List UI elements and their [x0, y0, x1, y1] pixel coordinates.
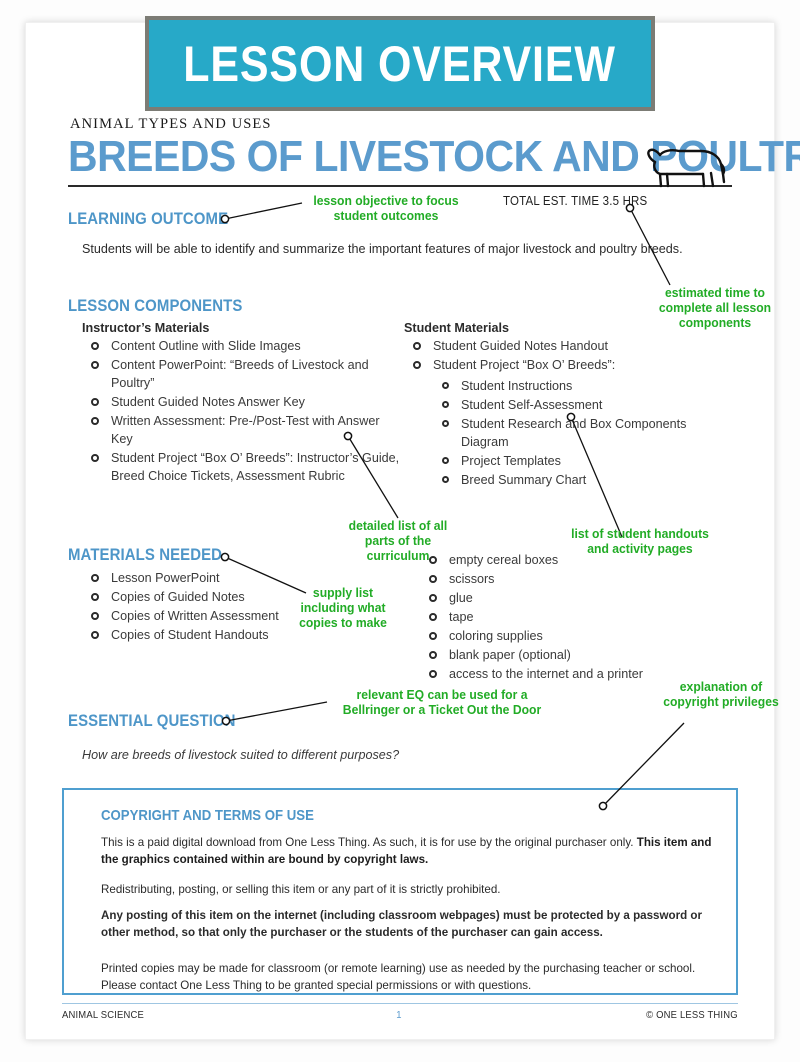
- list-item: Breed Summary Chart: [433, 471, 724, 489]
- list-item: tape: [420, 608, 740, 626]
- annotation-supply-list: supply list including what copies to mak…: [291, 586, 396, 631]
- footer-divider: [62, 1003, 738, 1004]
- materials-needed-right-list: empty cereal boxes scissors glue tape co…: [420, 551, 740, 684]
- total-est-time: TOTAL EST. TIME 3.5 HRS: [503, 194, 647, 208]
- annotation-estimated-time: estimated time to complete all lesson co…: [644, 286, 787, 331]
- list-item: Project Templates: [433, 452, 724, 470]
- copyright-paragraph-3: Any posting of this item on the internet…: [101, 907, 713, 942]
- list-item: glue: [420, 589, 740, 607]
- copyright-paragraph-4: Printed copies may be made for classroom…: [101, 960, 713, 995]
- list-item: Student Guided Notes Answer Key: [82, 393, 402, 411]
- annotation-copyright: explanation of copyright privileges: [652, 680, 791, 710]
- list-item-label: Student Project “Box O’ Breeds”:: [433, 358, 615, 372]
- list-item: scissors: [420, 570, 740, 588]
- list-item: Student Research and Box Components Diag…: [433, 415, 724, 451]
- cow-icon: [641, 140, 733, 194]
- list-item: Student Project “Box O’ Breeds”: Instruc…: [82, 449, 402, 485]
- subheading-student-materials: Student Materials: [404, 321, 509, 335]
- footer-page-number: 1: [396, 1009, 401, 1021]
- student-materials-list: Student Guided Notes Handout Student Pro…: [404, 337, 724, 490]
- list-item: Student Self-Assessment: [433, 396, 724, 414]
- learning-outcome-text: Students will be able to identify and su…: [82, 240, 722, 258]
- section-heading-learning-outcome: LEARNING OUTCOME: [68, 209, 228, 229]
- eyebrow-label: ANIMAL TYPES AND USES: [70, 116, 272, 133]
- title-divider: [68, 185, 732, 187]
- list-item: coloring supplies: [420, 627, 740, 645]
- student-project-sublist: Student Instructions Student Self-Assess…: [433, 377, 724, 489]
- list-item: Written Assessment: Pre-/Post-Test with …: [82, 412, 402, 448]
- copyright-paragraph-1: This is a paid digital download from One…: [101, 834, 713, 869]
- annotation-detailed-list: detailed list of all parts of the curric…: [333, 519, 462, 564]
- list-item: blank paper (optional): [420, 646, 740, 664]
- annotation-lesson-objective: lesson objective to focus student outcom…: [306, 194, 466, 224]
- list-item: Student Instructions: [433, 377, 724, 395]
- section-heading-lesson-components: LESSON COMPONENTS: [68, 296, 242, 316]
- essential-question-text: How are breeds of livestock suited to di…: [82, 748, 399, 762]
- section-heading-essential-question: ESSENTIAL QUESTION: [68, 711, 236, 731]
- list-item: Content PowerPoint: “Breeds of Livestock…: [82, 356, 402, 392]
- list-item: Student Project “Box O’ Breeds”: Student…: [404, 356, 724, 489]
- copyright-box: COPYRIGHT AND TERMS OF USE This is a pai…: [62, 788, 738, 995]
- list-item: Content Outline with Slide Images: [82, 337, 402, 355]
- instructor-materials-list: Content Outline with Slide Images Conten…: [82, 337, 402, 486]
- list-item: Student Guided Notes Handout: [404, 337, 724, 355]
- annotation-student-handouts: list of student handouts and activity pa…: [560, 527, 720, 557]
- subheading-instructor-materials: Instructor’s Materials: [82, 321, 209, 335]
- copyright-heading: COPYRIGHT AND TERMS OF USE: [101, 807, 314, 824]
- lesson-overview-banner: LESSON OVERVIEW: [145, 16, 655, 111]
- copyright-paragraph-2: Redistributing, posting, or selling this…: [101, 881, 713, 898]
- lesson-overview-page: LESSON OVERVIEW ANIMAL TYPES AND USES BR…: [0, 0, 800, 1062]
- banner-title: LESSON OVERVIEW: [184, 39, 617, 89]
- footer-copyright-label: © ONE LESS THING: [646, 1009, 738, 1021]
- section-heading-materials-needed: MATERIALS NEEDED: [68, 545, 222, 565]
- copyright-p1-normal: This is a paid digital download from One…: [101, 836, 637, 849]
- annotation-essential-question: relevant EQ can be used for a Bellringer…: [330, 688, 554, 718]
- footer-course-label: ANIMAL SCIENCE: [62, 1009, 144, 1021]
